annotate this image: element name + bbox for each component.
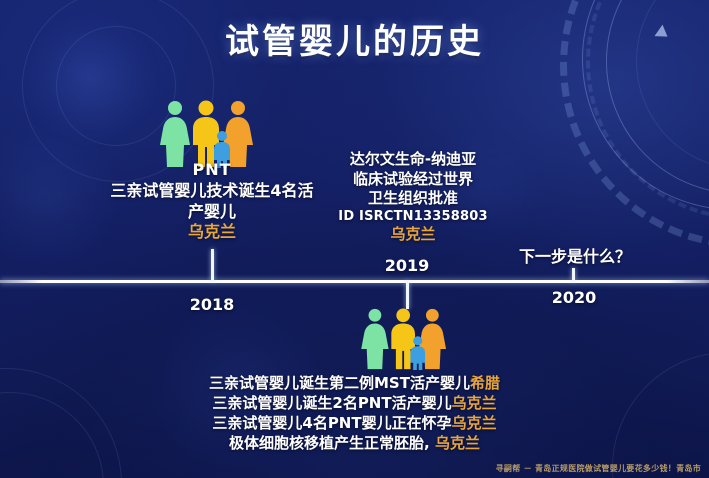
bottom-row-3: 三亲试管婴儿4名PNT婴儿正在怀孕乌克兰	[0, 413, 709, 433]
watermark-text: 寻嗣帮 － 青岛正规医院做试管婴儿要花多少钱！青岛市	[496, 463, 701, 474]
family-three-parents-child-icon	[355, 308, 455, 370]
bottom-row-4: 极体细胞核移植产生正常胚胎, 乌克兰	[0, 433, 709, 453]
bottom-row-3-text: 三亲试管婴儿4名PNT婴儿正在怀孕	[212, 414, 451, 432]
family-three-parents-child-icon	[158, 100, 258, 168]
bottom-row-2-text: 三亲试管婴儿诞生2名PNT活产婴儿	[212, 394, 451, 412]
bottom-row-2-country: 乌克兰	[452, 394, 497, 412]
timeline-year-2018: 2018	[190, 295, 235, 314]
event-2019-country: 乌克兰	[318, 225, 508, 245]
family-icon-bottom	[355, 308, 455, 374]
bottom-row-2: 三亲试管婴儿诞生2名PNT活产婴儿乌克兰	[0, 393, 709, 413]
event-2019-trial-id: ID ISRCTN13358803	[318, 209, 508, 226]
bottom-event-list: 三亲试管婴儿诞生第二例MST活产婴儿希腊 三亲试管婴儿诞生2名PNT活产婴儿乌克…	[0, 373, 709, 453]
event-2019-line-2: 临床试验经过世界	[318, 170, 508, 190]
bottom-row-1-country: 希腊	[470, 374, 500, 392]
timeline-tick-2020	[572, 268, 575, 281]
event-2018-heading: PNT	[92, 160, 332, 181]
event-2019-line-3: 卫生组织批准	[318, 189, 508, 209]
timeline-tick-2019	[406, 281, 409, 309]
event-2019-line-1: 达尔文生命-纳迪亚	[318, 150, 508, 170]
timeline-year-2020: 2020	[552, 288, 597, 307]
timeline-year-2019: 2019	[385, 256, 430, 275]
event-2018-line-1: 三亲试管婴儿技术诞生4名活	[92, 181, 332, 202]
next-step-question: 下一步是什么？	[519, 243, 631, 267]
bottom-row-1: 三亲试管婴儿诞生第二例MST活产婴儿希腊	[0, 373, 709, 393]
event-2018-country: 乌克兰	[92, 222, 332, 243]
timeline-tick-2018	[211, 249, 214, 281]
event-2018-line-2: 产婴儿	[92, 202, 332, 223]
presentation-slide: 试管婴儿的历史 PNT	[0, 0, 709, 478]
bottom-row-4-text: 极体细胞核移植产生正常胚胎,	[229, 434, 435, 452]
bottom-row-4-country: 乌克兰	[435, 434, 480, 452]
bottom-row-1-text: 三亲试管婴儿诞生第二例MST活产婴儿	[209, 374, 470, 392]
timeline-axis	[0, 280, 709, 283]
bottom-row-3-country: 乌克兰	[452, 414, 497, 432]
event-block-2018: PNT 三亲试管婴儿技术诞生4名活 产婴儿 乌克兰	[92, 160, 332, 243]
event-block-2019: 达尔文生命-纳迪亚 临床试验经过世界 卫生组织批准 ID ISRCTN13358…	[318, 150, 508, 245]
slide-title: 试管婴儿的历史	[0, 14, 709, 63]
